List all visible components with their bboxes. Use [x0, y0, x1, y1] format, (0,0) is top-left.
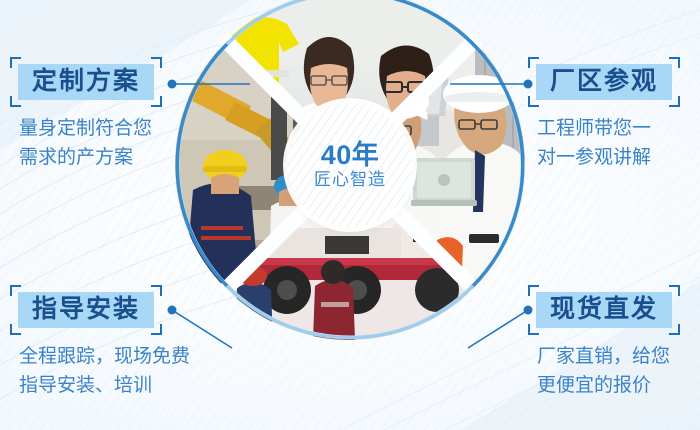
bracket-corner-icon	[10, 324, 21, 335]
center-slogan: 匠心智造	[314, 171, 386, 188]
bracket-corner-icon	[528, 96, 539, 107]
callout-description-line: 指导安装、培训	[19, 371, 225, 400]
bracket-corner-icon	[10, 96, 21, 107]
bracket-corner-icon	[151, 57, 162, 68]
callout-title: 厂区参观	[550, 67, 658, 95]
callout-description-line: 更便宜的报价	[537, 371, 700, 400]
callout-install-guidance[interactable]: 指导安装 全程跟踪，现场免费 指导安装、培训	[10, 286, 225, 401]
bracket-corner-icon	[151, 285, 162, 296]
callout-title-badge: 定制方案	[18, 64, 154, 100]
bracket-corner-icon	[151, 96, 162, 107]
callout-title-badge: 现货直发	[536, 292, 672, 328]
bracket-corner-icon	[528, 324, 539, 335]
callout-description-line: 量身定制符合您	[19, 114, 225, 143]
callout-title: 指导安装	[32, 295, 140, 323]
bracket-corner-icon	[10, 57, 21, 68]
callout-description: 全程跟踪，现场免费 指导安装、培训	[10, 342, 225, 401]
center-years: 40年	[321, 142, 380, 169]
callout-description-line: 对一参观讲解	[537, 143, 700, 172]
bracket-corner-icon	[669, 324, 680, 335]
callout-description: 厂家直销，给您 更便宜的报价	[528, 342, 700, 401]
callout-title: 定制方案	[32, 67, 140, 95]
center-badge: 40年 匠心智造	[288, 103, 412, 227]
callout-description: 工程师带您一 对一参观讲解	[528, 114, 700, 173]
callout-title-badge: 厂区参观	[536, 64, 672, 100]
callout-in-stock-shipping[interactable]: 现货直发 厂家直销，给您 更便宜的报价	[528, 286, 700, 401]
callout-title: 现货直发	[550, 295, 658, 323]
callout-custom-plan[interactable]: 定制方案 量身定制符合您 需求的产方案	[10, 58, 225, 173]
bracket-corner-icon	[669, 285, 680, 296]
bracket-corner-icon	[669, 57, 680, 68]
bracket-corner-icon	[10, 285, 21, 296]
callout-description-line: 需求的产方案	[19, 143, 225, 172]
callout-title-badge: 指导安装	[18, 292, 154, 328]
bracket-corner-icon	[669, 96, 680, 107]
bracket-corner-icon	[528, 57, 539, 68]
callout-description-line: 全程跟踪，现场免费	[19, 342, 225, 371]
callout-description-line: 厂家直销，给您	[537, 342, 700, 371]
callout-description-line: 工程师带您一	[537, 114, 700, 143]
callout-factory-visit[interactable]: 厂区参观 工程师带您一 对一参观讲解	[528, 58, 700, 173]
bracket-corner-icon	[151, 324, 162, 335]
bracket-corner-icon	[528, 285, 539, 296]
promo-banner: 40年 匠心智造 定制方案 量身定制符合您 需求的产方案	[0, 0, 700, 430]
callout-description: 量身定制符合您 需求的产方案	[10, 114, 225, 173]
photo-wheel: 40年 匠心智造	[175, 0, 525, 340]
